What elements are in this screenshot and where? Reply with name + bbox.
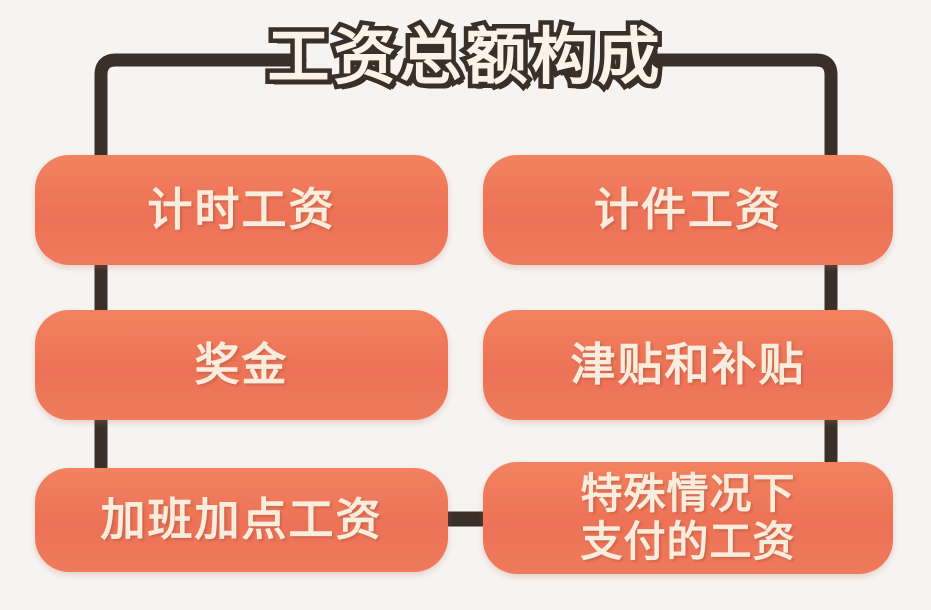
node-label: 特殊情况下 支付的工资 <box>580 470 795 566</box>
node-label: 奖金 <box>194 340 288 390</box>
node-label: 计件工资 <box>594 185 782 235</box>
diagram-title: 工资总额构成 <box>0 22 931 94</box>
node-special-circumstances-wage[interactable]: 特殊情况下 支付的工资 <box>483 462 893 574</box>
node-piece-rate-wage[interactable]: 计件工资 <box>483 155 893 265</box>
node-label: 加班加点工资 <box>100 495 382 545</box>
node-label: 计时工资 <box>147 185 335 235</box>
node-hourly-wage[interactable]: 计时工资 <box>35 155 448 265</box>
diagram-canvas: 工资总额构成 计时工资 计件工资 奖金 津贴和补贴 加班加点工资 特殊情况下 支… <box>0 0 931 610</box>
node-overtime-wage[interactable]: 加班加点工资 <box>35 468 448 572</box>
node-label: 津贴和补贴 <box>570 340 805 390</box>
node-bonus[interactable]: 奖金 <box>35 310 448 420</box>
node-allowances-and-subsidies[interactable]: 津贴和补贴 <box>483 310 893 420</box>
